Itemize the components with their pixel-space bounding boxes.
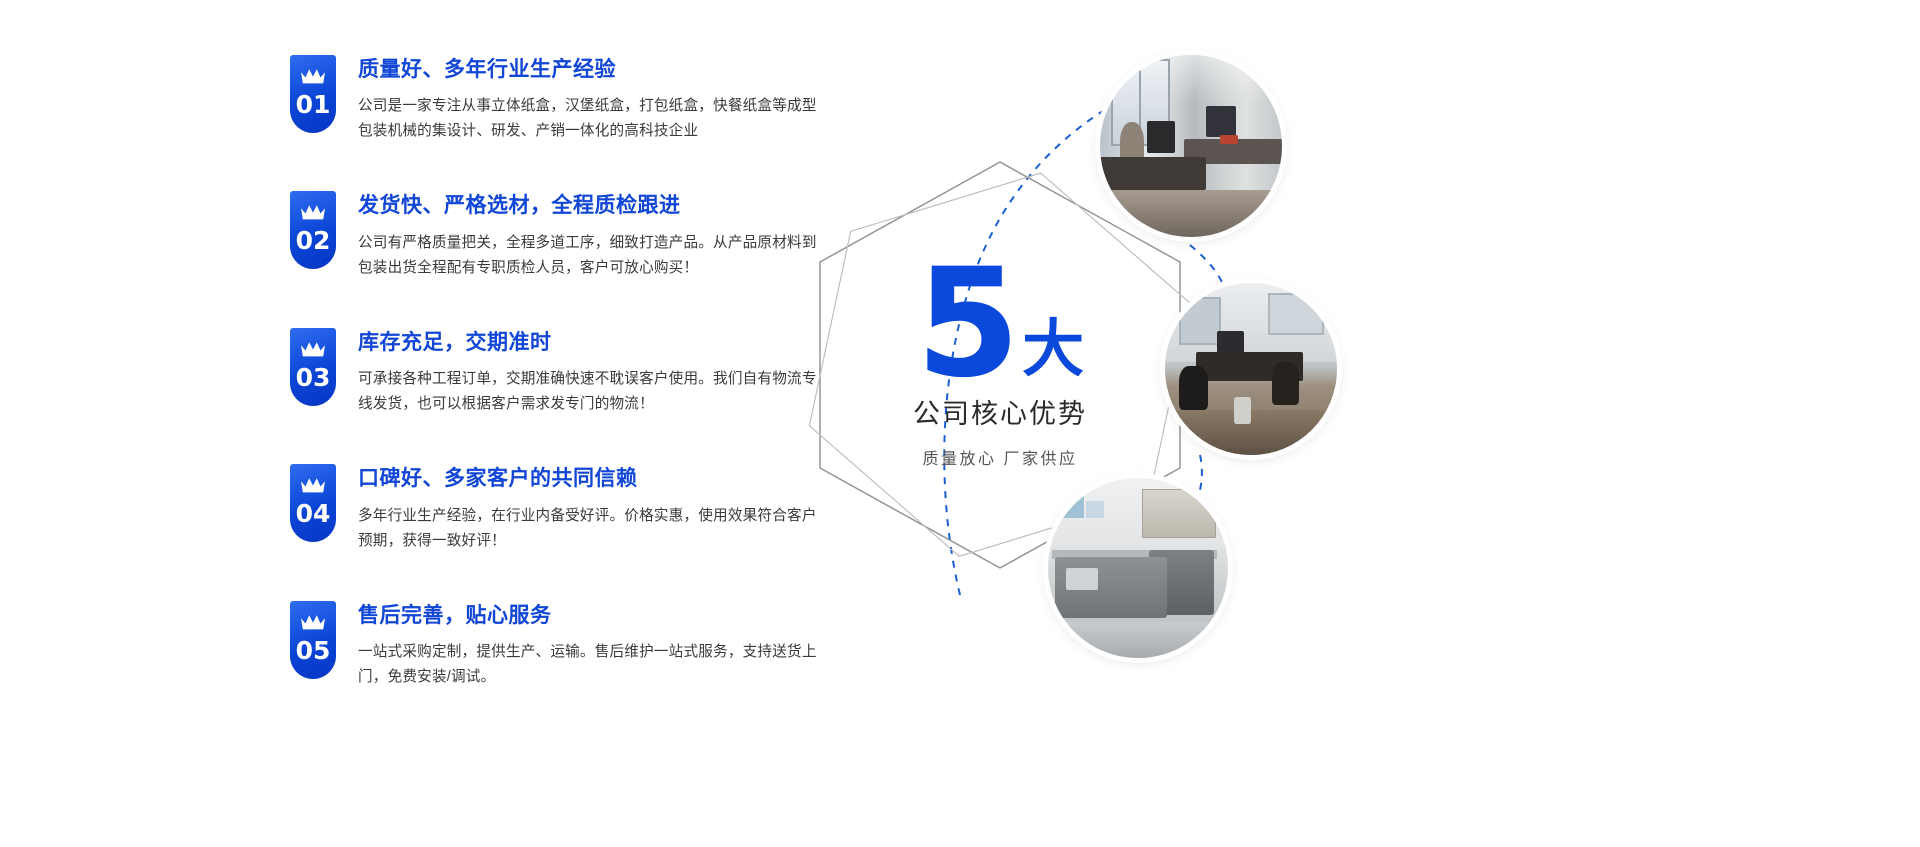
feature-desc: 公司有严格质量把关，全程多道工序，细致打造产品。从产品原材料到包装出货全程配有专… [358,231,828,281]
badge-number: 01 [296,92,331,117]
emblem-big-number-row: 5 大 [916,261,1084,389]
badge-number: 02 [296,228,331,253]
photo-office-workstation[interactable] [1100,55,1282,237]
badge-04: 04 [290,464,336,542]
photo-packaging-machine[interactable] [1048,478,1228,658]
crown-icon [300,341,326,358]
feature-desc: 一站式采购定制，提供生产、运输。售后维护一站式服务，支持送货上门，免费安装/调试… [358,640,828,690]
emblem-graphic: 5 大 公司核心优势 质量放心 厂家供应 [780,0,1920,847]
emblem-center: 5 大 公司核心优势 质量放心 厂家供应 [850,220,1150,510]
badge-number: 03 [296,365,331,390]
feature-desc: 可承接各种工程订单，交期准确快速不耽误客户使用。我们自有物流专线发货，也可以根据… [358,367,828,417]
crown-icon [300,614,326,631]
badge-05: 05 [290,601,336,679]
badge-01: 01 [290,55,336,133]
feature-desc: 公司是一家专注从事立体纸盒，汉堡纸盒，打包纸盒，快餐纸盒等成型包装机械的集设计、… [358,94,828,144]
crown-icon [300,204,326,221]
feature-desc: 多年行业生产经验，在行业内备受好评。价格实惠，使用效果符合客户预期，获得一致好评… [358,504,828,554]
badge-02: 02 [290,191,336,269]
crown-icon [300,68,326,85]
emblem-subtitle: 公司核心优势 [913,392,1087,431]
photo-office-room[interactable] [1165,283,1337,455]
badge-number: 05 [296,638,331,663]
emblem-tagline: 质量放心 厂家供应 [923,445,1078,469]
emblem-number: 5 [916,261,1016,389]
badge-number: 04 [296,501,331,526]
crown-icon [300,477,326,494]
advantages-banner: 01 质量好、多年行业生产经验 公司是一家专注从事立体纸盒，汉堡纸盒，打包纸盒，… [0,0,1920,847]
emblem-unit: 大 [1022,324,1084,377]
badge-03: 03 [290,328,336,406]
